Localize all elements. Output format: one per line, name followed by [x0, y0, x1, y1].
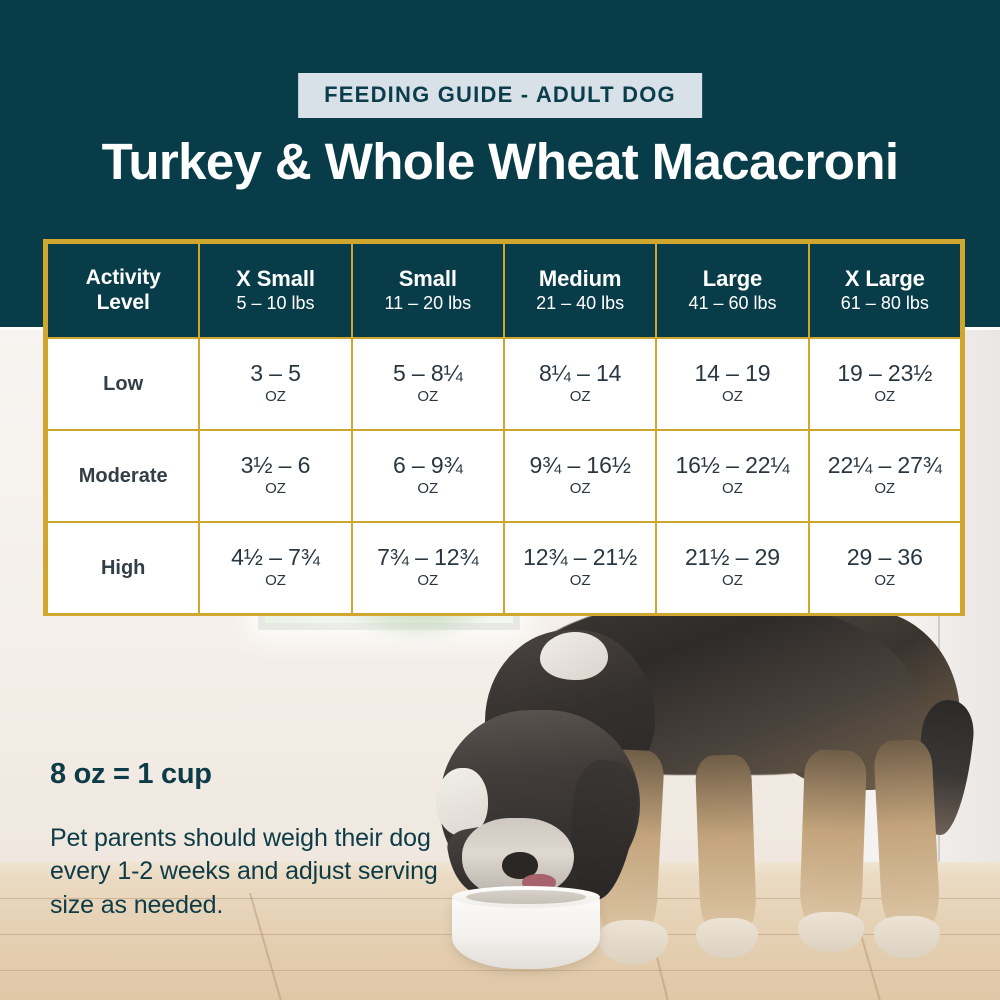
serving-amount: 9¾ – 16½ — [505, 453, 655, 478]
serving-amount: 16½ – 22¼ — [657, 453, 807, 478]
activity-level-cell: Low — [47, 338, 199, 430]
column-header-range: 41 – 60 lbs — [659, 292, 805, 315]
dog-leg — [799, 749, 867, 931]
serving-cell: 29 – 36 OZ — [809, 522, 961, 614]
feeding-guide-poster: FEEDING GUIDE - ADULT DOG Turkey & Whole… — [0, 0, 1000, 1000]
serving-amount: 21½ – 29 — [657, 545, 807, 570]
serving-unit: OZ — [353, 571, 503, 591]
serving-amount: 3½ – 6 — [200, 453, 350, 478]
feeding-table-body: Low 3 – 5 OZ 5 – 8¼ OZ 8¼ – 14 OZ 14 – — [47, 338, 961, 614]
serving-cell: 22¼ – 27¾ OZ — [809, 430, 961, 522]
serving-amount: 14 – 19 — [657, 361, 807, 386]
dog-paw — [874, 916, 940, 958]
serving-amount: 4½ – 7¾ — [200, 545, 350, 570]
serving-unit: OZ — [200, 479, 350, 499]
column-header-x-large: X Large 61 – 80 lbs — [809, 243, 961, 338]
column-header-name: Large — [659, 266, 805, 292]
serving-amount: 22¼ – 27¾ — [810, 453, 960, 478]
serving-cell: 7¾ – 12¾ OZ — [352, 522, 504, 614]
activity-level-cell: High — [47, 522, 199, 614]
food-bowl-interior — [466, 890, 586, 904]
serving-amount: 7¾ – 12¾ — [353, 545, 503, 570]
serving-unit: OZ — [505, 571, 655, 591]
serving-cell: 12¾ – 21½ OZ — [504, 522, 656, 614]
serving-cell: 16½ – 22¼ OZ — [656, 430, 808, 522]
page-title: Turkey & Whole Wheat Macacroni — [0, 132, 1000, 191]
column-header-name: Small — [355, 266, 501, 292]
dog-paw — [798, 912, 864, 952]
serving-cell: 3½ – 6 OZ — [199, 430, 351, 522]
column-header-small: Small 11 – 20 lbs — [352, 243, 504, 338]
column-header-name-2: Level — [50, 291, 196, 315]
serving-unit: OZ — [200, 571, 350, 591]
serving-amount: 12¾ – 21½ — [505, 545, 655, 570]
serving-cell: 4½ – 7¾ OZ — [199, 522, 351, 614]
column-header-range: 61 – 80 lbs — [812, 292, 958, 315]
serving-unit: OZ — [810, 571, 960, 591]
table-header-row: Activity Level X Small 5 – 10 lbs Small … — [47, 243, 961, 338]
dog-leg — [873, 739, 941, 934]
column-header-large: Large 41 – 60 lbs — [656, 243, 808, 338]
serving-amount: 5 – 8¼ — [353, 361, 503, 386]
weighing-note: Pet parents should weigh their dog every… — [50, 822, 470, 922]
serving-unit: OZ — [505, 479, 655, 499]
serving-cell: 19 – 23½ OZ — [809, 338, 961, 430]
table-row: High 4½ – 7¾ OZ 7¾ – 12¾ OZ 12¾ – 21½ OZ — [47, 522, 961, 614]
serving-unit: OZ — [200, 387, 350, 407]
serving-unit: OZ — [353, 479, 503, 499]
serving-amount: 29 – 36 — [810, 545, 960, 570]
column-header-name: Medium — [507, 266, 653, 292]
activity-level-cell: Moderate — [47, 430, 199, 522]
column-header-x-small: X Small 5 – 10 lbs — [199, 243, 351, 338]
serving-unit: OZ — [657, 479, 807, 499]
serving-unit: OZ — [505, 387, 655, 407]
feeding-table-head: Activity Level X Small 5 – 10 lbs Small … — [47, 243, 961, 338]
serving-amount: 6 – 9¾ — [353, 453, 503, 478]
feeding-guide-badge: FEEDING GUIDE - ADULT DOG — [298, 73, 702, 118]
table-row: Low 3 – 5 OZ 5 – 8¼ OZ 8¼ – 14 OZ 14 – — [47, 338, 961, 430]
serving-unit: OZ — [810, 479, 960, 499]
column-header-name: X Small — [202, 266, 348, 292]
column-header-name: X Large — [812, 266, 958, 292]
serving-cell: 5 – 8¼ OZ — [352, 338, 504, 430]
table-row: Moderate 3½ – 6 OZ 6 – 9¾ OZ 9¾ – 16½ OZ — [47, 430, 961, 522]
serving-unit: OZ — [657, 387, 807, 407]
column-header-name: Activity — [50, 266, 196, 290]
dog-paw — [696, 918, 758, 958]
serving-cell: 8¼ – 14 OZ — [504, 338, 656, 430]
serving-unit: OZ — [657, 571, 807, 591]
serving-amount: 8¼ – 14 — [505, 361, 655, 386]
feeding-table-container: Activity Level X Small 5 – 10 lbs Small … — [43, 239, 965, 616]
serving-cell: 9¾ – 16½ OZ — [504, 430, 656, 522]
column-header-range: 5 – 10 lbs — [202, 292, 348, 315]
feeding-table: Activity Level X Small 5 – 10 lbs Small … — [46, 242, 962, 615]
dog-leg — [695, 754, 757, 938]
serving-cell: 14 – 19 OZ — [656, 338, 808, 430]
dog-paw — [598, 920, 668, 964]
conversion-note: 8 oz = 1 cup — [50, 758, 212, 791]
column-header-medium: Medium 21 – 40 lbs — [504, 243, 656, 338]
serving-amount: 3 – 5 — [200, 361, 350, 386]
serving-cell: 3 – 5 OZ — [199, 338, 351, 430]
serving-cell: 6 – 9¾ OZ — [352, 430, 504, 522]
column-header-range: 21 – 40 lbs — [507, 292, 653, 315]
serving-unit: OZ — [353, 387, 503, 407]
column-header-activity-level: Activity Level — [47, 243, 199, 338]
serving-amount: 19 – 23½ — [810, 361, 960, 386]
dog-white-patch — [540, 632, 608, 680]
serving-unit: OZ — [810, 387, 960, 407]
column-header-range: 11 – 20 lbs — [355, 292, 501, 315]
serving-cell: 21½ – 29 OZ — [656, 522, 808, 614]
